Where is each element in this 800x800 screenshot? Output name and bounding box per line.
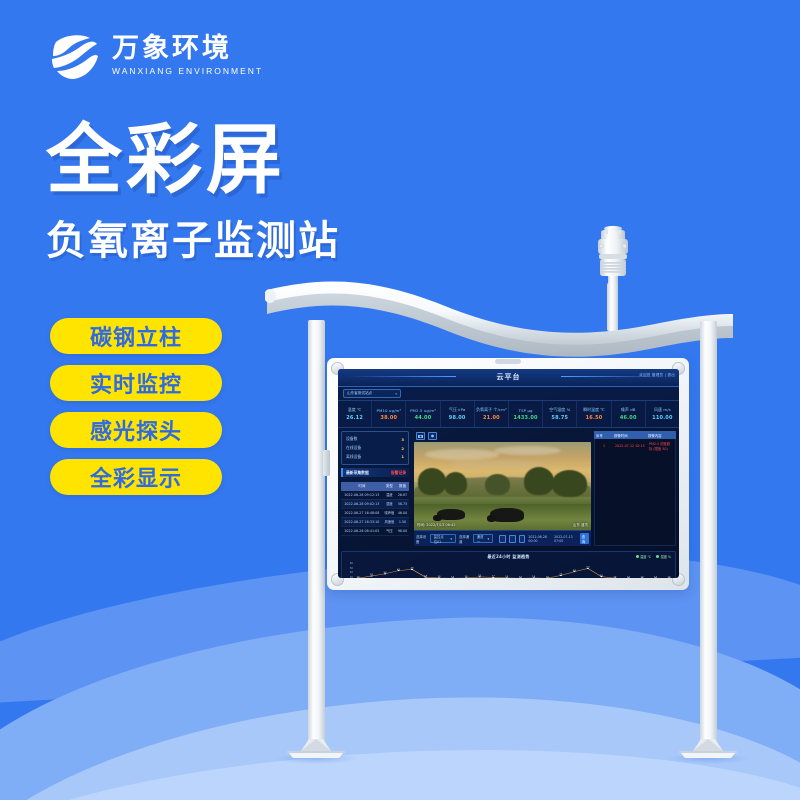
legend-label: 温度 ℃ [640,554,651,559]
video-toolbar [414,431,591,442]
tree [444,472,467,495]
device-stats-box: 设备数 3 在线设备 2 离线设备 1 [341,431,409,465]
device-select[interactable]: 监控点位01 ▾ [430,534,456,543]
metric-value: 98.00 [449,415,466,421]
product-illustration: 云平台 欢迎您 管理员 | 退出 山东省测试站点 ▾ 温度 ℃ 26.12 [255,225,765,770]
svg-text:46: 46 [410,568,414,569]
metric-value: 21.00 [483,415,500,421]
column-header: 报警时间 [612,431,646,439]
column-header: 时间 [341,482,383,490]
brand-name-cn: 万象环境 [112,34,263,62]
alarm-panel: 序号 报警时间 报警内容 1 2022-07-12 10:15 PM2.5 浓度… [593,428,679,549]
stat-row: 设备数 3 [346,435,404,444]
cell-value: 26.87 [396,491,409,500]
metric-item: 负氧离子 个/cm³ 21.00 [475,401,509,427]
legend-item: 温度 ℃ [636,554,651,559]
alarm-row: 1 2022-07-12 10:15 PM2.5 浓度超标 (限值 50) [595,439,675,452]
y-tick: 40 [350,572,353,575]
alarm-records-link[interactable]: 告警记录 [391,470,406,476]
cell-type: 气压 [383,526,396,535]
cell-value: 58.75 [396,499,409,508]
device-select-value: 监控点位01 [434,534,447,544]
cell-time: 2022-06-27 16:48:08 [341,508,383,517]
globe-swoosh-logo-icon [44,26,102,84]
steel-post-left [308,320,325,747]
y-axis-ticks: 60 50 40 30 20 10 0 [344,563,353,578]
tree [485,474,510,495]
svg-text:50: 50 [586,567,590,568]
video-controls: 选择设备 监控点位01 ▾ 选择通道 通道一 ▾ [414,530,591,546]
metric-item: 风速 m/s 110.00 [646,401,679,427]
column-header: 类型 [383,482,396,490]
legend-swatch [636,555,639,558]
cell-value: 98.00 [396,526,409,535]
metric-item: PM10 ug/m³ 38.00 [372,401,406,427]
live-video-feed[interactable]: 时间: 2022/7/13 06:42 山东 潍坊 [414,442,591,530]
y-tick: 60 [350,563,353,566]
date-from[interactable]: 2022-06-28 00:00 [528,535,551,543]
metric-value: 110.00 [652,415,673,421]
table-row: 2022-06-27 16:48:08 噪声值 46.00 [341,508,409,517]
trend-chart: 最近24小时 监测趋势 温度 ℃ 湿度 % 60 [341,551,676,578]
feature-pill-list: 碳钢立柱 实时监控 感光探头 全彩显示 [50,318,222,495]
stat-value: 3 [401,437,404,442]
pause-icon[interactable] [509,535,516,543]
play-icon[interactable] [499,535,506,543]
dashboard-title: 云平台 [338,372,679,382]
stat-value: 2 [401,446,404,451]
metric-value: 1433.00 [514,415,538,421]
record-icon[interactable] [428,432,437,440]
stat-key: 离线设备 [346,454,361,460]
metric-value: 16.50 [586,415,603,421]
feature-pill: 全彩显示 [50,459,222,495]
chart-title: 最近24小时 监测趋势 [344,554,673,560]
stat-row: 离线设备 1 [346,453,404,462]
metric-item: 气压 kPa 98.00 [441,401,475,427]
site-select[interactable]: 山东省测试站点 ▾ [343,389,401,398]
channel-select-value: 通道一 [477,534,484,544]
cell-type: 风速值 [383,517,396,526]
metric-item: PM2.5 ug/m³ 44.00 [406,401,440,427]
left-panel: 设备数 3 在线设备 2 离线设备 1 [338,428,412,549]
metric-value: 58.75 [551,415,568,421]
snapshot-icon[interactable] [416,432,425,440]
video-panel: 时间: 2022/7/13 06:42 山东 潍坊 选择设备 监控点位01 ▾ … [412,428,593,549]
promo-banner: 万象环境 WANXIANG ENVIRONMENT 全彩屏 负氧离子监测站 碳钢… [0,0,800,800]
alarm-table-header: 序号 报警时间 报警内容 [594,431,676,439]
chevron-down-icon: ▾ [450,537,452,541]
records-panel-title: 最新采集数据 [346,470,369,476]
table-row: 2022-06-26 08:41:05 气压 98.00 [341,526,409,535]
ultrasonic-weather-sensor-icon [590,225,636,287]
video-location: 山东 潍坊 [573,523,588,528]
cabinet-vent [495,359,521,364]
metric-value: 26.12 [346,415,363,421]
tree [418,468,446,494]
column-header: 报警内容 [646,431,676,439]
column-header: 数值 [396,482,409,490]
metric-label: PM2.5 ug/m³ [410,408,436,413]
display-cabinet: 云平台 欢迎您 管理员 | 退出 山东省测试站点 ▾ 温度 ℃ 26.12 [327,358,689,590]
cow-head [487,515,497,522]
cell-time: 2022-06-28 09:02:13 [341,499,383,508]
stat-key: 设备数 [346,436,357,442]
base-plate-right [675,739,741,759]
cell-type: 噪声值 [383,508,396,517]
device-select-label: 选择设备 [416,534,427,544]
legend-swatch [656,555,659,558]
dashboard-screen: 云平台 欢迎您 管理员 | 退出 山东省测试站点 ▾ 温度 ℃ 26.12 [338,369,679,578]
metric-label: 空气湿度 % [549,407,570,413]
brand-name-en: WANXIANG ENVIRONMENT [112,66,263,76]
dashboard-subbar: 山东省测试站点 ▾ [338,387,679,400]
brand-logo: 万象环境 WANXIANG ENVIRONMENT [44,26,263,84]
cell-time: 2022-06-27 16:33:10 [341,517,383,526]
chevron-down-icon: ▾ [487,537,489,541]
cell-value: 46.00 [396,508,409,517]
y-tick: 50 [350,568,353,571]
cabinet-latch [323,450,330,476]
calendar-icon[interactable] [519,535,526,543]
channel-select[interactable]: 通道一 ▾ [473,534,493,543]
metric-value: 46.00 [620,415,637,421]
cell-value: 1.50 [396,517,409,526]
table-row: 2022-06-27 16:33:10 风速值 1.50 [341,517,409,526]
metric-item: 噪声 dB 46.00 [612,401,646,427]
cell-time: 2022-06-28 09:12:13 [341,491,383,500]
table-row: 2022-06-28 09:02:13 湿度 58.75 [341,499,409,508]
metric-label: 噪声 dB [621,407,636,413]
table-header-row: 时间 类型 数值 [341,482,409,490]
cloud [494,446,561,456]
legend-item: 湿度 % [656,554,671,559]
date-to[interactable]: 2022-07-13 07:00 [554,535,577,543]
feature-pill: 感光探头 [50,412,222,448]
metric-label: 温度 ℃ [348,407,362,413]
y-tick: 30 [350,577,353,578]
metric-value: 44.00 [415,415,432,421]
metric-item: 温度 ℃ 26.12 [338,401,372,427]
header-user-info: 欢迎您 管理员 | 退出 [639,373,675,378]
chevron-down-icon: ▾ [395,392,397,396]
metric-label: TSP μg [519,408,533,413]
column-header: 序号 [594,431,612,439]
metric-strip: 温度 ℃ 26.12 PM10 ug/m³ 38.00 PM2.5 ug/m³ … [338,400,679,428]
alarm-table-body: 1 2022-07-12 10:15 PM2.5 浓度超标 (限值 50) [594,439,676,546]
metric-item: 瞬时温度 ℃ 16.50 [577,401,611,427]
wave-canopy-icon [265,280,735,358]
feature-pill: 碳钢立柱 [50,318,222,354]
feature-pill: 实时监控 [50,365,222,401]
alarm-time: 2022-07-12 10:15 [613,444,647,448]
cell-type: 温度 [383,491,396,500]
dashboard-body: 设备数 3 在线设备 2 离线设备 1 [338,428,679,549]
cell-time: 2022-06-26 08:41:05 [341,526,383,535]
metric-label: PM10 ug/m³ [377,408,402,413]
stat-row: 在线设备 2 [346,444,404,453]
tree [552,470,587,496]
metric-label: 瞬时温度 ℃ [583,407,605,413]
table-row: 2022-06-28 09:12:13 温度 26.87 [341,491,409,500]
chart-legend: 温度 ℃ 湿度 % [636,554,671,559]
site-select-value: 山东省测试站点 [347,391,372,396]
alarm-content: PM2.5 浓度超标 (限值 50) [647,441,675,451]
chart-plot-area: 60 50 40 30 20 10 0 14223042461815141519… [344,563,673,578]
base-plate-left [283,739,349,759]
steel-post-right [700,321,717,748]
headline-main: 全彩屏 [46,124,340,198]
metric-label: 负氧离子 个/cm³ [476,407,507,413]
records-panel-header: 最新采集数据 告警记录 [341,468,409,477]
metric-item: TSP μg 1433.00 [509,401,543,427]
cell-type: 湿度 [383,499,396,508]
metric-label: 风速 m/s [654,407,671,413]
legend-label: 湿度 % [661,554,671,559]
dashboard-header: 云平台 欢迎您 管理员 | 退出 [338,369,679,387]
video-timestamp: 时间: 2022/7/13 06:42 [417,523,455,528]
channel-select-label: 选择通道 [459,534,470,544]
tree [524,467,554,495]
records-table: 时间 类型 数值 2022-06-28 09:12:13 温度 26.87 [341,482,409,535]
alarm-index: 1 [595,444,613,448]
metric-item: 空气湿度 % 58.75 [543,401,577,427]
query-button[interactable]: 查询 [580,533,589,544]
stat-value: 1 [401,454,404,459]
stat-key: 在线设备 [346,445,361,451]
metric-value: 38.00 [380,415,397,421]
metric-label: 气压 kPa [449,407,465,413]
